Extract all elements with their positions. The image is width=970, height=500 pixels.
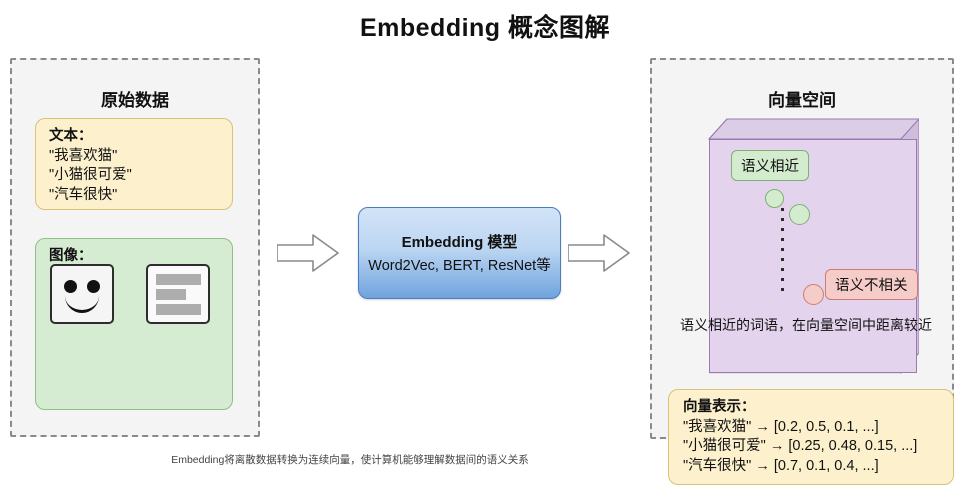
footer-caption: Embedding将离散数据转换为连续向量，使计算机能够理解数据间的语义关系 — [0, 452, 700, 467]
smiley-mouth-icon — [65, 294, 99, 313]
text-sample-2: "小猫很可爱" — [49, 166, 132, 186]
document-line-1-icon — [156, 274, 201, 285]
text-card-heading: 文本： — [49, 127, 132, 147]
semantic-unrelated-tag: 语义不相关 — [825, 269, 918, 300]
embedding-model-title: Embedding 模型 — [402, 231, 518, 252]
semantic-similar-tag: 语义相近 — [731, 150, 809, 181]
smiley-eye-left-icon — [64, 280, 77, 293]
text-samples-card: 文本： "我喜欢猫" "小猫很可爱" "汽车很快" — [35, 118, 233, 210]
vector-space-panel-title: 向量空间 — [652, 86, 952, 111]
distance-dashed-line — [781, 208, 784, 294]
document-line-2-icon — [156, 289, 186, 300]
document-lines-icon — [146, 264, 210, 324]
document-line-3-icon — [156, 304, 201, 315]
arrow-right-output-icon — [568, 233, 630, 273]
smiley-face-icon — [50, 264, 114, 324]
vector-line-3: "汽车很快" → [0.7, 0.1, 0.4, ...] — [683, 457, 917, 477]
vector-node-pink-1 — [803, 284, 824, 305]
embedding-model-box[interactable]: Embedding 模型 Word2Vec, BERT, ResNet等 — [358, 207, 561, 299]
vector-representation-card: 向量表示： "我喜欢猫" → [0.2, 0.5, 0.1, ...] "小猫很… — [668, 389, 954, 485]
vector-line-1: "我喜欢猫" → [0.2, 0.5, 0.1, ...] — [683, 418, 917, 438]
vector-space-caption: 语义相近的词语，在向量空间中距离较近 — [678, 315, 934, 335]
text-sample-3: "汽车很快" — [49, 186, 132, 206]
vector-node-green-2 — [789, 204, 810, 225]
smiley-eye-right-icon — [87, 280, 100, 293]
vector-card-heading: 向量表示： — [683, 398, 917, 418]
arrow-right-input-icon — [277, 233, 339, 273]
embedding-model-subtitle: Word2Vec, BERT, ResNet等 — [368, 254, 550, 275]
raw-data-panel-title: 原始数据 — [12, 86, 258, 111]
vector-node-green-1 — [765, 189, 784, 208]
text-sample-1: "我喜欢猫" — [49, 147, 132, 167]
page-title: Embedding 概念图解 — [0, 8, 970, 44]
vector-line-2: "小猫很可爱" → [0.25, 0.48, 0.15, ...] — [683, 437, 917, 457]
